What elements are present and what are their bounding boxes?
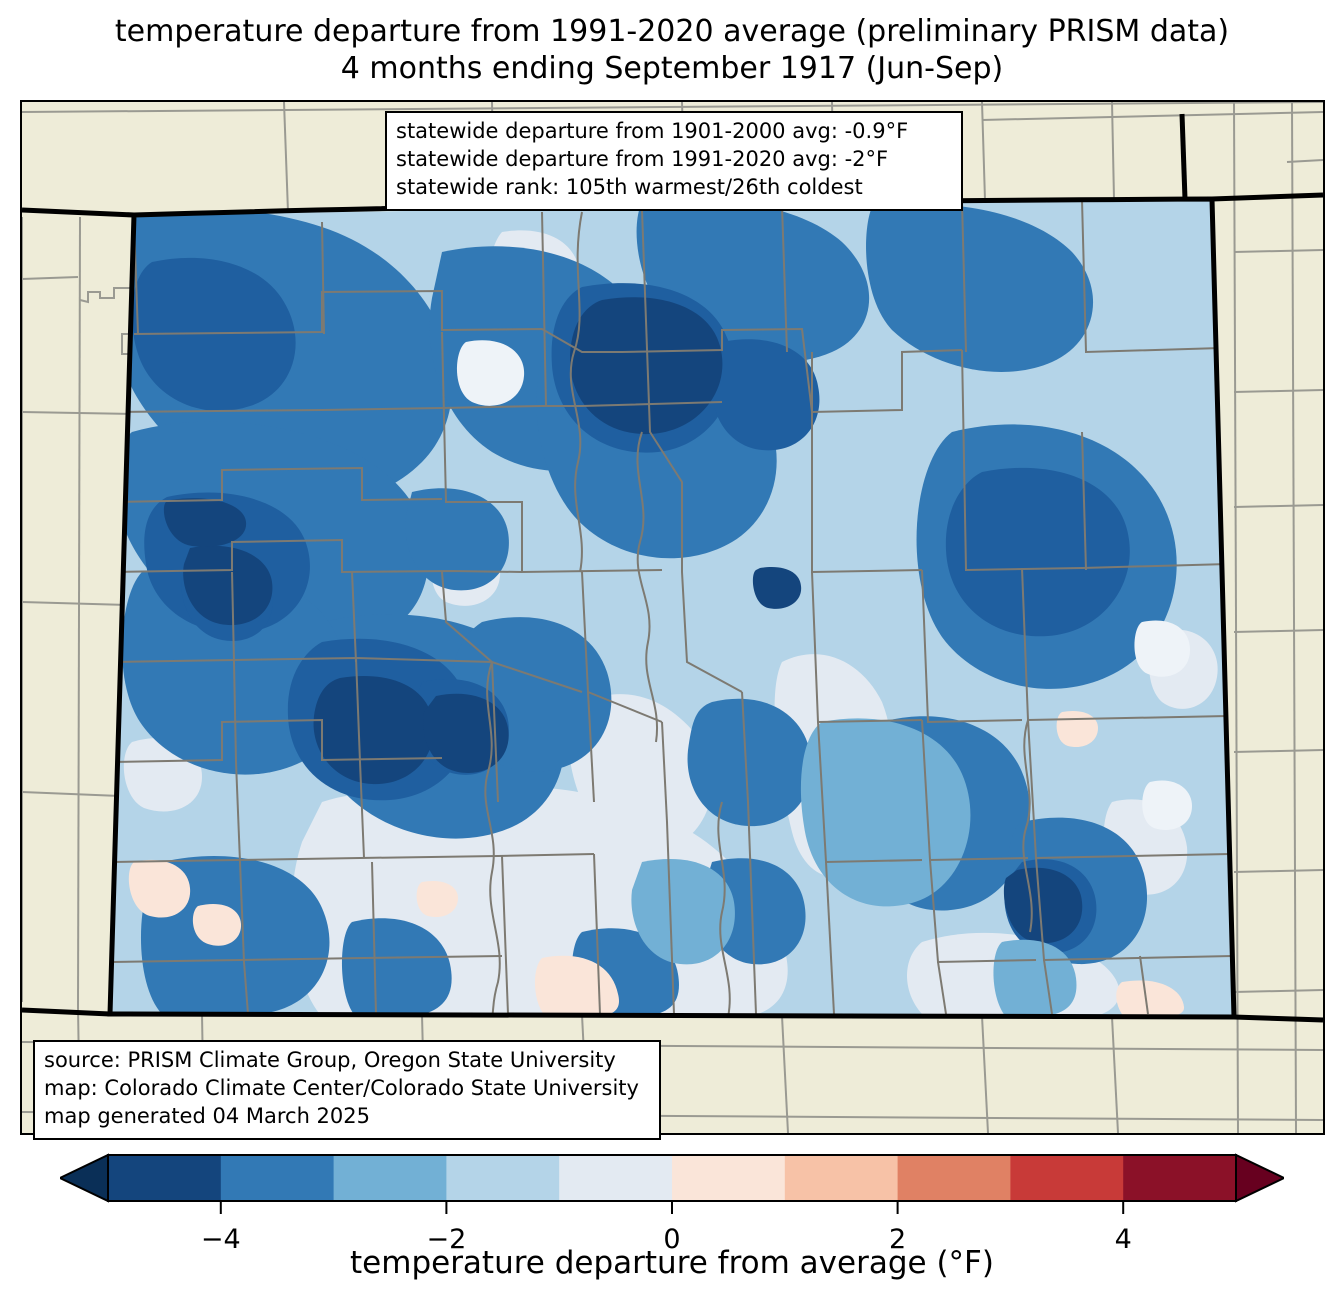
colorbar-band-3 (446, 1155, 559, 1201)
source-credit-box: source: PRISM Climate Group, Oregon Stat… (33, 1040, 661, 1140)
colorbar-band-8 (1010, 1155, 1123, 1201)
colorbar-under-cap (60, 1155, 108, 1201)
stats-departure-1901-2000: statewide departure from 1901-2000 avg: … (396, 118, 952, 146)
stats-rank: statewide rank: 105th warmest/26th colde… (396, 174, 952, 202)
colorado-temperature-departure-map (22, 102, 1323, 1133)
colorbar-band-9 (1123, 1155, 1236, 1201)
colorbar-bands (60, 1155, 1284, 1201)
stats-departure-1991-2020: statewide departure from 1991-2020 avg: … (396, 146, 952, 174)
colorbar-band-1 (221, 1155, 334, 1201)
colorbar-band-5 (672, 1155, 785, 1201)
page-title: temperature departure from 1991-2020 ave… (0, 14, 1344, 87)
colorbar-over-cap (1236, 1155, 1284, 1201)
source-line: source: PRISM Climate Group, Oregon Stat… (44, 1047, 650, 1075)
colorbar-band-0 (108, 1155, 221, 1201)
map-generated-line: map generated 04 March 2025 (44, 1103, 650, 1131)
colorbar-ticks (221, 1201, 1123, 1214)
statewide-stats-box: statewide departure from 1901-2000 avg: … (385, 111, 963, 211)
title-line-2: 4 months ending September 1917 (Jun-Sep) (0, 51, 1344, 88)
colorbar-band-6 (785, 1155, 898, 1201)
map-panel (20, 100, 1325, 1135)
colorbar-band-2 (334, 1155, 447, 1201)
colorbar-axis-label: temperature departure from average (°F) (0, 1245, 1344, 1281)
colorbar-band-7 (898, 1155, 1011, 1201)
map-credit-line: map: Colorado Climate Center/Colorado St… (44, 1075, 650, 1103)
title-line-1: temperature departure from 1991-2020 ave… (0, 14, 1344, 51)
colorbar-band-4 (559, 1155, 672, 1201)
